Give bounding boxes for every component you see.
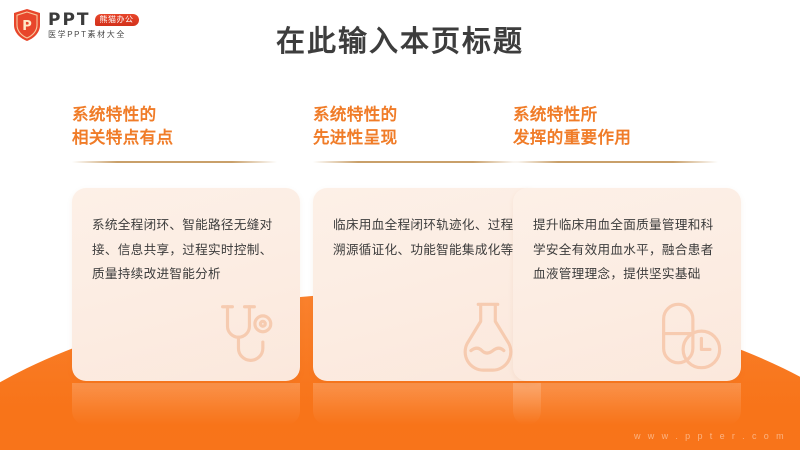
content-card-2[interactable]: 临床用血全程闭环轨迹化、过程溯源循证化、功能智能集成化等 [313, 188, 541, 381]
column-heading-1: 系统特性的 相关特点有点 [72, 104, 300, 151]
pill-clock-icon [649, 297, 727, 375]
content-card-1[interactable]: 系统全程闭环、智能路径无缝对接、信息共享，过程实时控制、质量持续改进智能分析 [72, 188, 300, 381]
column-heading-block-3: 系统特性所 发挥的重要作用 [513, 104, 749, 163]
slide-canvas: P PPT 熊猫办公 医学PPT素材大全 在此输入本页标题 系统特性的 相关特点… [0, 0, 800, 450]
flask-icon [449, 297, 527, 375]
column-heading-2: 系统特性的 先进性呈现 [313, 104, 541, 151]
column-divider-2 [313, 161, 518, 163]
site-watermark: w w w . p p t e r . c o m [634, 431, 786, 441]
column-heading-block-1: 系统特性的 相关特点有点 [72, 104, 300, 163]
stethoscope-icon [208, 297, 286, 375]
column-heading-3: 系统特性所 发挥的重要作用 [513, 104, 749, 151]
column-divider-1 [72, 161, 277, 163]
card-body-text-2: 临床用血全程闭环轨迹化、过程溯源循证化、功能智能集成化等 [313, 188, 541, 262]
card-body-text-3: 提升临床用血全面质量管理和科学安全有效用血水平，融合患者血液管理理念，提供坚实基… [513, 188, 741, 287]
column-divider-3 [513, 161, 718, 163]
content-card-3[interactable]: 提升临床用血全面质量管理和科学安全有效用血水平，融合患者血液管理理念，提供坚实基… [513, 188, 741, 381]
card-body-text-1: 系统全程闭环、智能路径无缝对接、信息共享，过程实时控制、质量持续改进智能分析 [72, 188, 300, 287]
column-heading-block-2: 系统特性的 先进性呈现 [313, 104, 541, 163]
